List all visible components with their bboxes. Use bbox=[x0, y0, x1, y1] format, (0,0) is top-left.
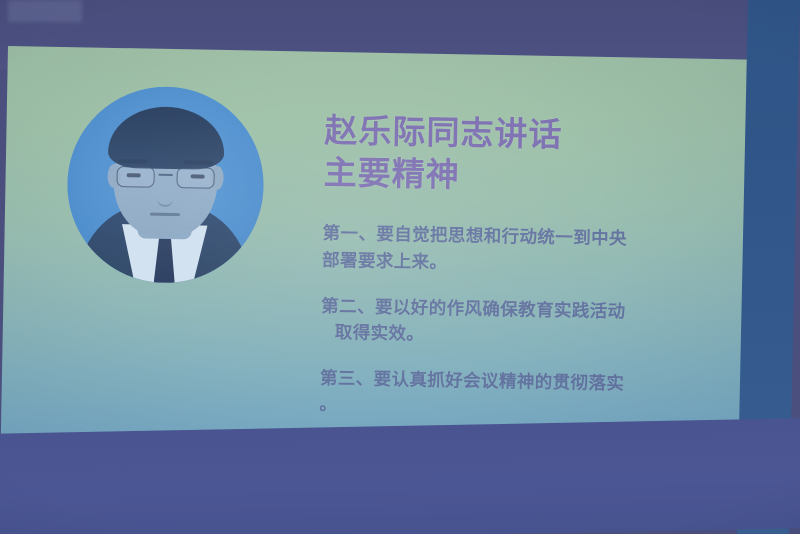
slide-bullet-3: 第三、要认真抓好会议精神的贯彻落实 。 bbox=[319, 365, 720, 426]
portrait-photo bbox=[66, 85, 266, 285]
portrait-mouth bbox=[150, 213, 180, 217]
portrait-eyebrow-right bbox=[184, 160, 214, 165]
slide-title: 赵乐际同志讲话 主要精神 bbox=[323, 110, 724, 202]
wall-bottom-band bbox=[0, 418, 800, 534]
glasses-bridge bbox=[159, 174, 173, 176]
slide-bullet-list: 第一、要自觉把思想和行动统一到中央 部署要求上来。 第二、要以好的作风确保教育实… bbox=[319, 220, 723, 425]
portrait-nose bbox=[157, 183, 173, 207]
wall-light-patch bbox=[8, 0, 82, 22]
portrait-eyebrow-left bbox=[118, 159, 148, 164]
glasses-lens-left bbox=[116, 166, 154, 188]
slide-title-line-1: 赵乐际同志讲话 bbox=[324, 110, 725, 160]
slide-bullet-2: 第二、要以好的作风确保教育实践活动 取得实效。 bbox=[321, 292, 722, 353]
slide-content: 赵乐际同志讲话 主要精神 第一、要自觉把思想和行动统一到中央 部署要求上来。 第… bbox=[319, 110, 725, 425]
slide-bullet-1: 第一、要自觉把思想和行动统一到中央 部署要求上来。 bbox=[322, 220, 723, 281]
slide-title-line-2: 主要精神 bbox=[323, 152, 724, 202]
projected-slide-photo: 赵乐际同志讲话 主要精神 第一、要自觉把思想和行动统一到中央 部署要求上来。 第… bbox=[0, 0, 800, 534]
glasses-lens-right bbox=[176, 167, 214, 189]
